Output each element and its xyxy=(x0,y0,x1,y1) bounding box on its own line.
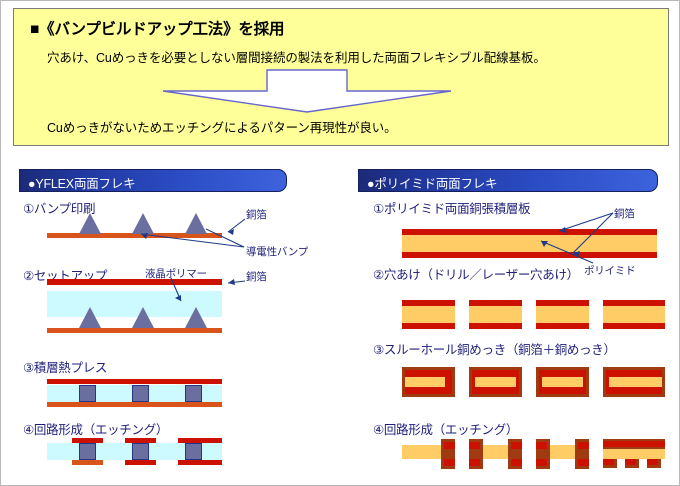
right-step2-seg1-copper-bottom xyxy=(402,323,455,329)
left-step4-via-1 xyxy=(79,443,96,460)
right-step2-seg4-polyimide xyxy=(603,306,665,323)
right-step3-seg4-polyimide xyxy=(609,377,662,387)
right-step2-seg3-copper-bottom xyxy=(536,323,589,329)
right-step4-seg4-bottom-pad-1-copper xyxy=(603,459,614,465)
left-step3-via-2 xyxy=(132,385,149,402)
right-step3-seg3-polyimide xyxy=(542,377,583,387)
left-step-3-caption: ③積層熱プレス xyxy=(23,357,107,376)
left-step4-bottom-pad-1 xyxy=(72,460,103,465)
right-step2-seg4-copper-bottom xyxy=(603,323,665,329)
right-step3-seg2-polyimide xyxy=(475,377,516,387)
left-step4-bottom-seg-1 xyxy=(187,460,200,465)
right-step4-seg4-top-copper xyxy=(603,441,665,447)
right-step4-seg2-barrel-right-copper-bottom xyxy=(511,459,522,466)
right-step-4-caption: ④回路形成（エッチング） xyxy=(373,419,518,438)
right-step4-seg2-barrel-right-copper-top xyxy=(511,442,522,449)
left-step4-bottom-pad-2 xyxy=(125,460,156,465)
right-step4-seg1-barrel-copper-top xyxy=(444,442,455,449)
right-step3-seg1-polyimide xyxy=(405,377,445,387)
right-step4-seg2-barrel-left-copper-top xyxy=(469,442,480,449)
right-step4-seg3-barrel-left-copper-top xyxy=(536,442,547,449)
right-column-header-label: ●ポリイミド両面フレキ xyxy=(367,173,497,192)
right-step-2-caption: ②穴あけ（ドリル／レーザー穴あけ） xyxy=(373,264,579,283)
right-step-3-caption: ③スルーホール銅めっき（銅箔＋銅めっき） xyxy=(373,339,616,358)
left-step3-via-3 xyxy=(185,385,202,402)
right-step4-seg4-bottom-pad-2-copper xyxy=(625,459,636,465)
right-step4-seg3-barrel-left-copper-bottom xyxy=(536,459,547,466)
right-step2-seg2-copper-bottom xyxy=(469,323,522,329)
left-step4-via-2 xyxy=(132,443,149,460)
right-column-header: ●ポリイミド両面フレキ xyxy=(358,169,658,192)
diagram-page: ■《バンプビルドアップ工法》を採用 穴あけ、Cuめっきを必要としない層間接続の製… xyxy=(0,0,680,486)
right-step2-seg3-polyimide xyxy=(536,306,589,323)
left-step2-leader-lines xyxy=(1,1,341,341)
right-step4-seg1-barrel-copper-bottom xyxy=(444,459,455,466)
right-step2-seg2-polyimide xyxy=(469,306,522,323)
left-step4-via-3 xyxy=(185,443,202,460)
right-step4-seg4-bottom-pad-3-copper xyxy=(647,459,658,465)
right-step4-seg3-barrel-right-copper-top xyxy=(578,442,589,449)
left-step-4-caption: ④回路形成（エッチング） xyxy=(23,419,168,438)
left-step3-copper-bottom xyxy=(47,402,222,407)
left-step4-bottom-seg-2 xyxy=(209,460,222,465)
right-step4-seg3-barrel-right-copper-bottom xyxy=(578,459,589,466)
left-step3-copper-top xyxy=(47,379,222,384)
right-step2-seg1-polyimide xyxy=(402,306,455,323)
right-step4-seg2-barrel-left-copper-bottom xyxy=(469,459,480,466)
left-step3-via-1 xyxy=(79,385,96,402)
